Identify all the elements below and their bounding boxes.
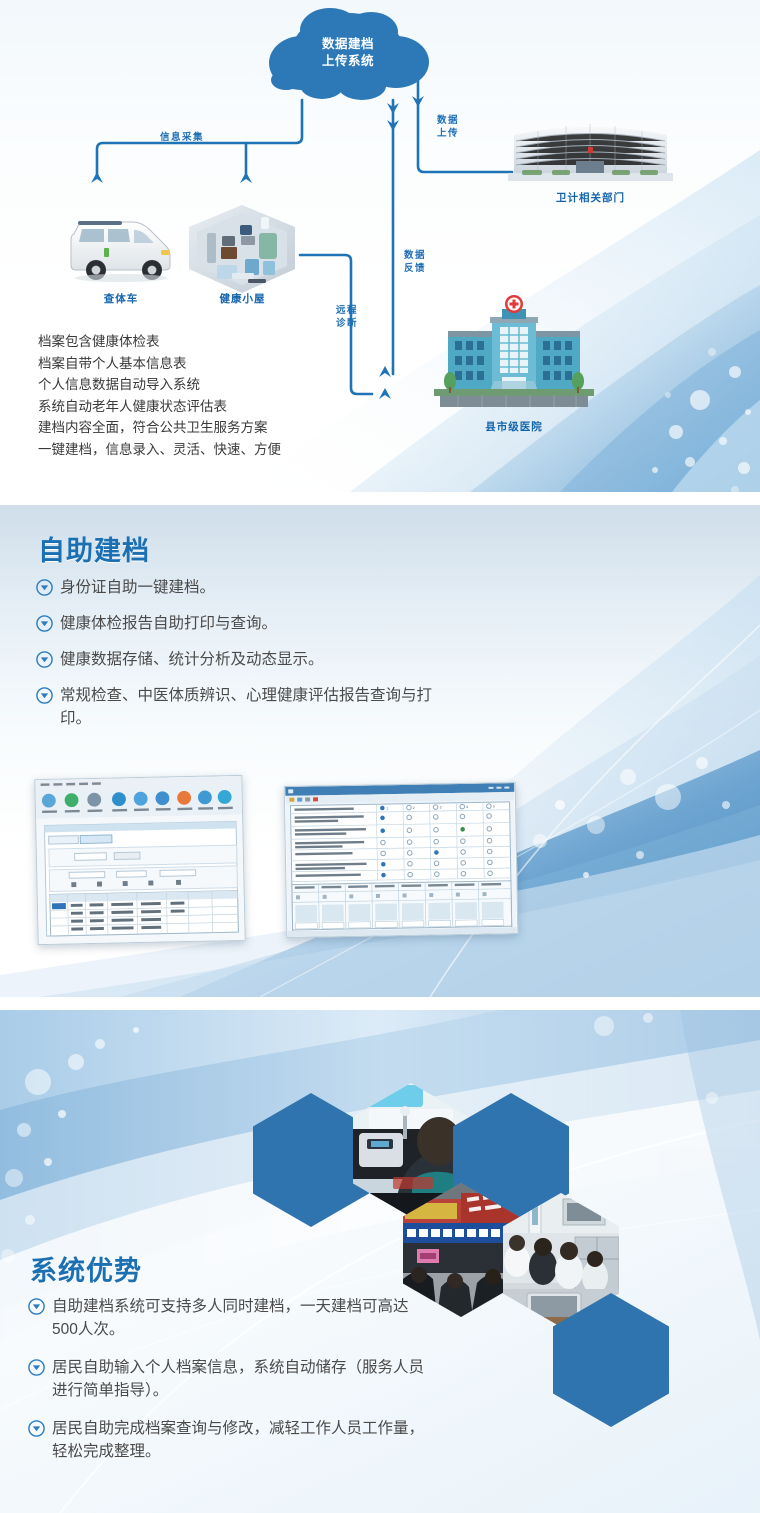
poster-page: 数据建档 上传系统 信息采集 数据 上传 数据 反馈 远程 诊断 [0,0,760,1513]
chevron-down-circle-icon [36,579,53,596]
feature-line: 个人信息数据自动导入系统 [38,374,458,396]
node-label-health-authority: 卫计相关部门 [508,190,673,205]
health-cabin-photo [185,203,300,295]
cloud-node-upload-system: 数据建档 上传系统 [258,6,438,111]
flow-label-remote-diagnosis: 远程 诊断 [336,304,358,330]
bullet-item: 健康体检报告自助打印与查询。 [36,612,486,635]
bullet-text: 常规检查、中医体质辨识、心理健康评估报告查询与打印。 [60,684,460,730]
svg-text:5: 5 [493,805,495,809]
section2-bullet-list: 身份证自助一键建档。 健康体检报告自助打印与查询。 健康数据存储、统计分析及动态… [36,576,486,743]
hex-solid-1 [253,1093,369,1227]
section3-heading: 系统优势 [30,1249,142,1288]
section2-heading: 自助建档 [38,529,150,568]
cloud-label: 数据建档 上传系统 [258,36,438,70]
feature-line: 一键建档，信息录入、灵活、快速、方便 [38,439,458,461]
health-authority-photo [508,117,673,185]
flow-label-feedback: 数据 反馈 [404,249,426,275]
flow-label-collect: 信息采集 [160,131,204,144]
section-data-flow: 数据建档 上传系统 信息采集 数据 上传 数据 反馈 远程 诊断 [0,0,760,492]
chevron-down-circle-icon [28,1298,45,1315]
section-self-service-archiving: 自助建档 身份证自助一键建档。 健康体检报告自助打印与查询。 健康数据存储、统计… [0,505,760,997]
feature-line: 系统自动老年人健康状态评估表 [38,396,458,418]
bullet-text: 健康数据存储、统计分析及动态显示。 [60,648,324,671]
chevron-down-circle-icon [36,615,53,632]
flow-label-upload: 数据 上传 [437,114,459,140]
hexagon-photo-cluster [245,1085,665,1425]
bullet-item: 健康数据存储、统计分析及动态显示。 [36,648,486,671]
svg-text:4: 4 [466,805,468,809]
section1-feature-list: 档案包含健康体检表 档案自带个人基本信息表 个人信息数据自动导入系统 系统自动老… [38,331,458,460]
chevron-down-circle-icon [36,651,53,668]
bullet-text: 身份证自助一键建档。 [60,576,215,599]
node-label-health-cabin: 健康小屋 [185,291,300,306]
svg-text:3: 3 [440,805,442,809]
exam-van-photo [66,212,176,284]
screenshot-assessment-form[interactable]: 12345 [284,782,519,938]
section-divider-2 [0,997,760,1010]
node-label-exam-van: 查体车 [66,291,176,306]
feature-line: 档案自带个人基本信息表 [38,353,458,375]
feature-line: 建档内容全面，符合公共卫生服务方案 [38,417,458,439]
bullet-text: 健康体检报告自助打印与查询。 [60,612,277,635]
svg-text:2: 2 [413,806,415,810]
screenshot-records-management[interactable] [34,775,245,945]
bullet-item: 身份证自助一键建档。 [36,576,486,599]
bullet-item: 常规检查、中医体质辨识、心理健康评估报告查询与打印。 [36,684,466,730]
section-divider-1 [0,492,760,505]
chevron-down-circle-icon [28,1420,45,1437]
chevron-down-circle-icon [36,687,53,704]
feature-line: 档案包含健康体检表 [38,331,458,353]
chevron-down-circle-icon [28,1359,45,1376]
svg-text:1: 1 [386,806,388,810]
